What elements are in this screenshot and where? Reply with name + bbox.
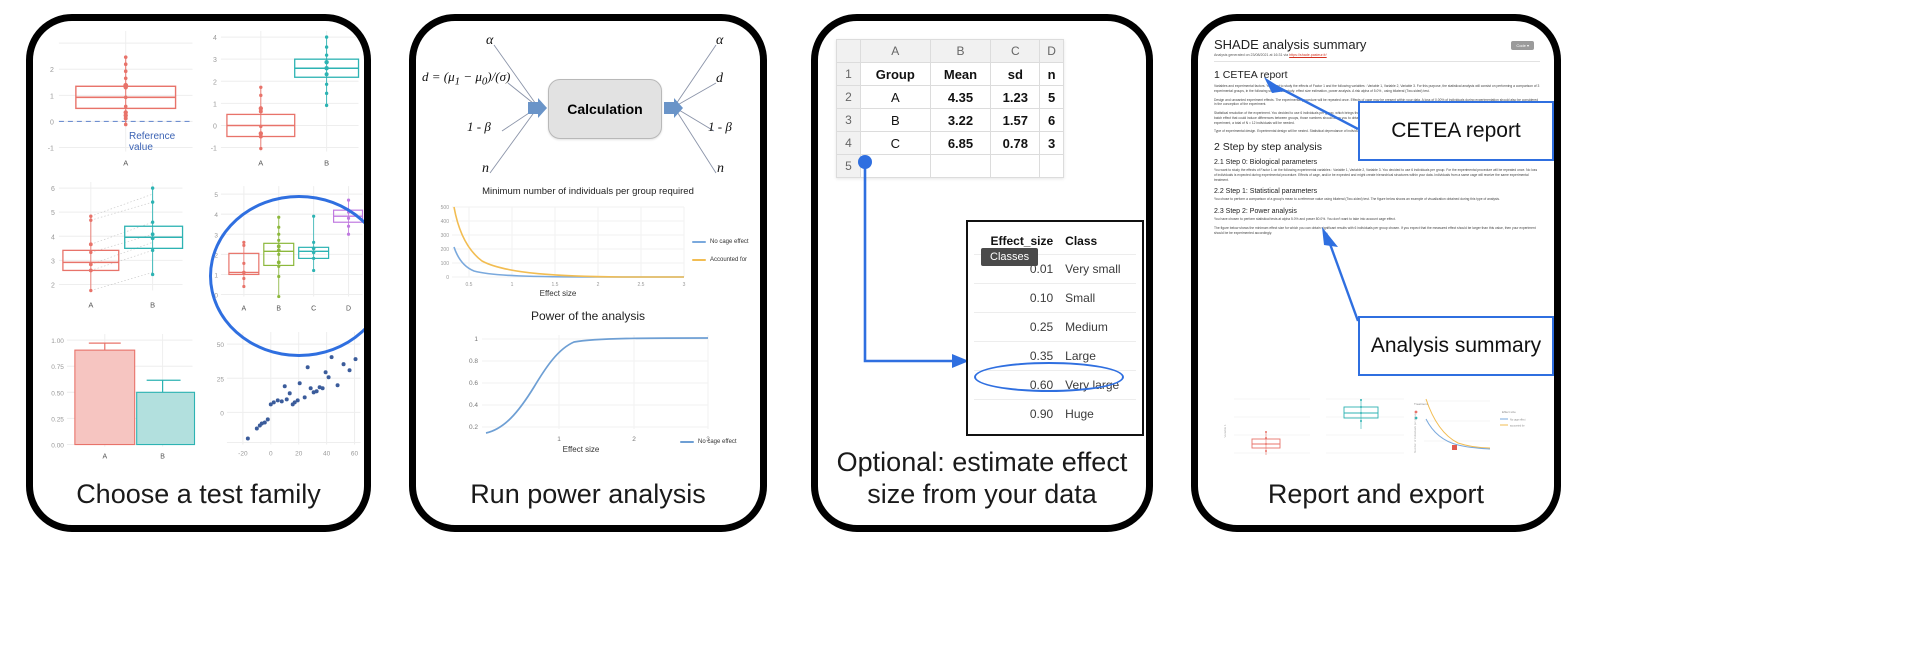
svg-text:accounted for: accounted for [1510,425,1525,428]
panel-report-and-export: Code ▾ SHADE analysis summary Analysis g… [1191,14,1561,532]
chart-two-groups-comparison: 432 10-1 [199,21,365,172]
svg-text:0.4: 0.4 [469,402,478,409]
cell-d1[interactable]: n [1040,63,1064,86]
chart-min-n-title: Minimum number of individuals per group … [416,186,760,197]
panel-run-power-analysis: α d = (μ1 − μ0)/(σ) 1 - β n Calculation … [409,14,767,532]
calculation-box: Calculation [548,79,662,139]
svg-text:0.6: 0.6 [469,380,478,387]
report-section-2-3-heading: 2.3 Step 2: Power analysis [1214,208,1540,215]
report-paragraph: You chose to perform a comparison of a g… [1214,197,1540,202]
output-power: 1 - β [708,119,732,135]
panel4-content: Code ▾ SHADE analysis summary Analysis g… [1198,21,1554,473]
input-alpha: α [486,33,493,49]
report-meta: Analysis generated on 23/08/2021 at 16:3… [1214,53,1540,57]
cell-d3[interactable]: 6 [1040,109,1064,132]
panel3-content: A B C D 1 Group Mean sd n 2 A 4.35 1.23 [818,21,1146,473]
classes-tooltip: Classes [981,248,1038,266]
effect-size-class: Very small [1059,255,1136,284]
chart-proportions-barplot: 1.000.75 0.500.25 0.00 AB [33,322,199,473]
cell-d5[interactable] [1040,155,1064,178]
input-effect-size-formula: d = (μ1 − μ0)/(σ) [422,69,510,88]
cell-c1[interactable]: sd [991,63,1040,86]
panel3-caption: Optional: estimate effect size from your… [818,447,1146,511]
input-sample-size: n [482,161,489,177]
svg-text:2: 2 [213,79,217,86]
svg-text:B: B [276,305,281,312]
svg-text:3: 3 [214,232,218,239]
legend-swatch-power-no-cage-effect [680,441,694,443]
svg-text:3: 3 [683,282,686,288]
spreadsheet-col-a[interactable]: A [861,40,931,63]
effect-size-class: Huge [1059,400,1136,429]
svg-text:100: 100 [441,261,450,267]
svg-text:4: 4 [51,234,55,241]
table-row: 4 C 6.85 0.78 3 [837,132,1064,155]
chart-correlation-scatter: 50250 [199,322,365,473]
svg-text:Variable 1: Variable 1 [1223,424,1227,438]
svg-text:200: 200 [441,247,450,253]
highlight-ellipse-large [974,362,1124,392]
callout-cetea-report: CETEA report [1358,101,1554,161]
svg-text:0.75: 0.75 [51,365,64,372]
svg-text:2: 2 [214,252,218,259]
chart-one-group-vs-reference: 21 0-1 [33,21,199,172]
effect-size-value: 0.10 [974,284,1059,313]
svg-text:0: 0 [268,451,272,458]
row-number[interactable]: 1 [837,63,861,86]
legend-accounted-for: Accounted for [692,257,747,263]
output-alpha: α [716,33,723,49]
cell-b2[interactable]: 4.35 [930,86,991,109]
svg-text:C: C [311,305,316,312]
report-meta-prefix: Analysis generated on 23/08/2021 at 16:3… [1214,53,1289,57]
svg-text:0: 0 [220,411,224,418]
svg-text:2: 2 [597,282,600,288]
data-spreadsheet[interactable]: A B C D 1 Group Mean sd n 2 A 4.35 1.23 [836,39,1064,178]
row-number[interactable]: 2 [837,86,861,109]
svg-text:0: 0 [50,119,54,126]
chart-power-title: Power of the analysis [416,309,760,323]
cell-c2[interactable]: 1.23 [991,86,1040,109]
panel2-caption: Run power analysis [416,479,760,511]
svg-text:400: 400 [441,219,450,225]
svg-text:-20: -20 [238,451,248,458]
row-number[interactable]: 4 [837,132,861,155]
table-row: 2 A 4.35 1.23 5 [837,86,1064,109]
output-effect-size: d [716,71,723,87]
cell-a2[interactable]: A [861,86,931,109]
cell-a1[interactable]: Group [861,63,931,86]
effect-size-class: Small [1059,284,1136,313]
chart-paired-comparison: 654 32 [33,172,199,323]
cell-b4[interactable]: 6.85 [930,132,991,155]
output-sample-size: n [717,161,724,177]
cell-a4[interactable]: C [861,132,931,155]
svg-text:No cage effect: No cage effect [1510,419,1526,422]
report-paragraph: You want to study the effects of Factor … [1214,168,1540,182]
report-paragraph: You have chosen to perform statistical t… [1214,217,1540,222]
svg-text:B: B [150,300,155,309]
svg-text:0.8: 0.8 [469,358,478,365]
report-embedded-figures: Variable 1 Treatment Number of individ [1218,391,1536,463]
svg-text:20: 20 [295,451,303,458]
cell-d4[interactable]: 3 [1040,132,1064,155]
chart-power-xlabel: Effect size [446,445,716,454]
svg-text:A: A [241,305,246,312]
legend-power-no-cage-effect: No cage effect [680,439,737,445]
svg-text:A: A [123,159,128,168]
svg-text:Number of individuals per grou: Number of individuals per group [1413,413,1417,453]
svg-text:0: 0 [214,292,218,299]
svg-text:1.5: 1.5 [552,282,559,288]
panel1-caption: Choose a test family [33,479,364,511]
svg-text:5: 5 [214,192,218,199]
panel3-caption-line1: Optional: estimate effect [837,447,1128,477]
class-col-header: Class [1059,230,1136,255]
svg-text:0: 0 [446,275,449,281]
spreadsheet-column-header-row: A B C D [837,40,1064,63]
svg-text:3: 3 [51,258,55,265]
row-number[interactable]: 3 [837,109,861,132]
report-paragraph: The figure below shows the minimum effec… [1214,226,1540,236]
svg-text:2: 2 [51,282,55,289]
tutorial-steps-figure: 21 0-1 [0,0,1906,660]
svg-text:Treatment: Treatment [1414,402,1428,406]
spreadsheet-col-c[interactable]: C [991,40,1040,63]
svg-text:2.5: 2.5 [638,282,645,288]
svg-text:-1: -1 [210,146,216,153]
spreadsheet-col-d[interactable]: D [1040,40,1064,63]
svg-text:4: 4 [213,35,217,42]
report-paragraph: Variables and experimental factors. You … [1214,84,1540,94]
panel-choose-test-family: 21 0-1 [26,14,371,532]
table-row: 1 Group Mean sd n [837,63,1064,86]
table-row[interactable]: 0.25 Medium [974,313,1136,342]
svg-text:1.00: 1.00 [51,338,64,345]
svg-text:0.2: 0.2 [469,424,478,431]
cell-a5[interactable] [861,155,931,178]
cell-b1[interactable]: Mean [930,63,991,86]
cell-c4[interactable]: 0.78 [991,132,1040,155]
legend-label-accounted-for: Accounted for [710,257,747,263]
report-document: Code ▾ SHADE analysis summary Analysis g… [1214,35,1540,467]
svg-text:1: 1 [50,93,54,100]
svg-text:1: 1 [213,101,217,108]
report-title: SHADE analysis summary [1214,37,1540,52]
legend-label-power-no-cage-effect: No cage effect [698,439,737,445]
panel3-caption-line2: size from your data [867,479,1097,509]
svg-text:40: 40 [323,451,331,458]
svg-text:1: 1 [557,436,561,443]
report-section-1-heading: 1 CETEA report [1214,69,1540,81]
svg-text:A: A [258,159,263,168]
row-number[interactable]: 5 [837,155,861,178]
effect-size-class: Medium [1059,313,1136,342]
chart-min-individuals-per-group: 500400300 2001000 0.511.5 22.53 [422,201,760,297]
svg-text:B: B [324,159,329,168]
svg-text:0.5: 0.5 [466,282,473,288]
effect-size-value: 0.25 [974,313,1059,342]
chart-min-n-xlabel: Effect size [422,289,694,298]
effect-size-class-table: Effect_size Class 0.01 Very small 0.10 S… [966,220,1144,436]
cell-c3[interactable]: 1.57 [991,109,1040,132]
effect-size-value: 0.90 [974,400,1059,429]
svg-text:1: 1 [474,336,478,343]
svg-text:0.50: 0.50 [51,391,64,398]
svg-text:60: 60 [350,451,358,458]
cell-b5[interactable] [930,155,991,178]
svg-text:0.00: 0.00 [51,443,64,450]
table-row[interactable]: 0.10 Small [974,284,1136,313]
reference-value-label: Reference value [129,131,199,153]
input-power: 1 - β [467,119,491,135]
chart-power-of-the-analysis: 10.80.6 0.40.2 123 [446,329,756,445]
spreadsheet-corner[interactable] [837,40,861,63]
svg-text:A: A [88,300,93,309]
svg-text:300: 300 [441,233,450,239]
svg-text:0.25: 0.25 [51,417,64,424]
svg-text:6: 6 [51,186,55,193]
legend-no-cage-effect: No cage effect [692,239,749,245]
svg-text:Effect size: Effect size [1502,410,1516,414]
svg-text:0: 0 [213,123,217,130]
legend-swatch-accounted-for [692,259,706,261]
svg-text:1: 1 [214,272,218,279]
svg-text:50: 50 [216,342,224,349]
spreadsheet-col-b[interactable]: B [930,40,991,63]
cell-d2[interactable]: 5 [1040,86,1064,109]
svg-text:1: 1 [511,282,514,288]
svg-text:25: 25 [216,377,224,384]
report-section-2-2-heading: 2.2 Step 1: Statistical parameters [1214,188,1540,195]
svg-text:4: 4 [214,212,218,219]
svg-text:3: 3 [213,57,217,64]
cell-c5[interactable] [991,155,1040,178]
table-row: 5 [837,155,1064,178]
legend-swatch-no-cage-effect [692,241,706,243]
panel2-content: α d = (μ1 − μ0)/(σ) 1 - β n Calculation … [416,21,760,473]
svg-text:-1: -1 [48,146,54,153]
svg-text:A: A [102,454,107,461]
table-row: 3 B 3.22 1.57 6 [837,109,1064,132]
cell-b3[interactable]: 3.22 [930,109,991,132]
svg-text:5: 5 [51,210,55,217]
table-row[interactable]: 0.90 Huge [974,400,1136,429]
chart-four-groups-anova: 543 210 [199,172,365,323]
svg-text:2: 2 [632,436,636,443]
panel1-plots: 21 0-1 [33,21,364,473]
legend-label-no-cage-effect: No cage effect [710,239,749,245]
svg-text:2: 2 [50,67,54,74]
panel-estimate-effect-size: A B C D 1 Group Mean sd n 2 A 4.35 1.23 [811,14,1153,532]
svg-text:D: D [346,305,351,312]
svg-text:500: 500 [441,205,450,211]
report-meta-link[interactable]: https://shade.pasteur.fr/ [1289,53,1327,57]
panel4-caption: Report and export [1198,479,1554,511]
cell-a3[interactable]: B [861,109,931,132]
code-toggle-chip[interactable]: Code ▾ [1511,41,1534,50]
callout-analysis-summary: Analysis summary [1358,316,1554,376]
svg-text:B: B [160,454,165,461]
